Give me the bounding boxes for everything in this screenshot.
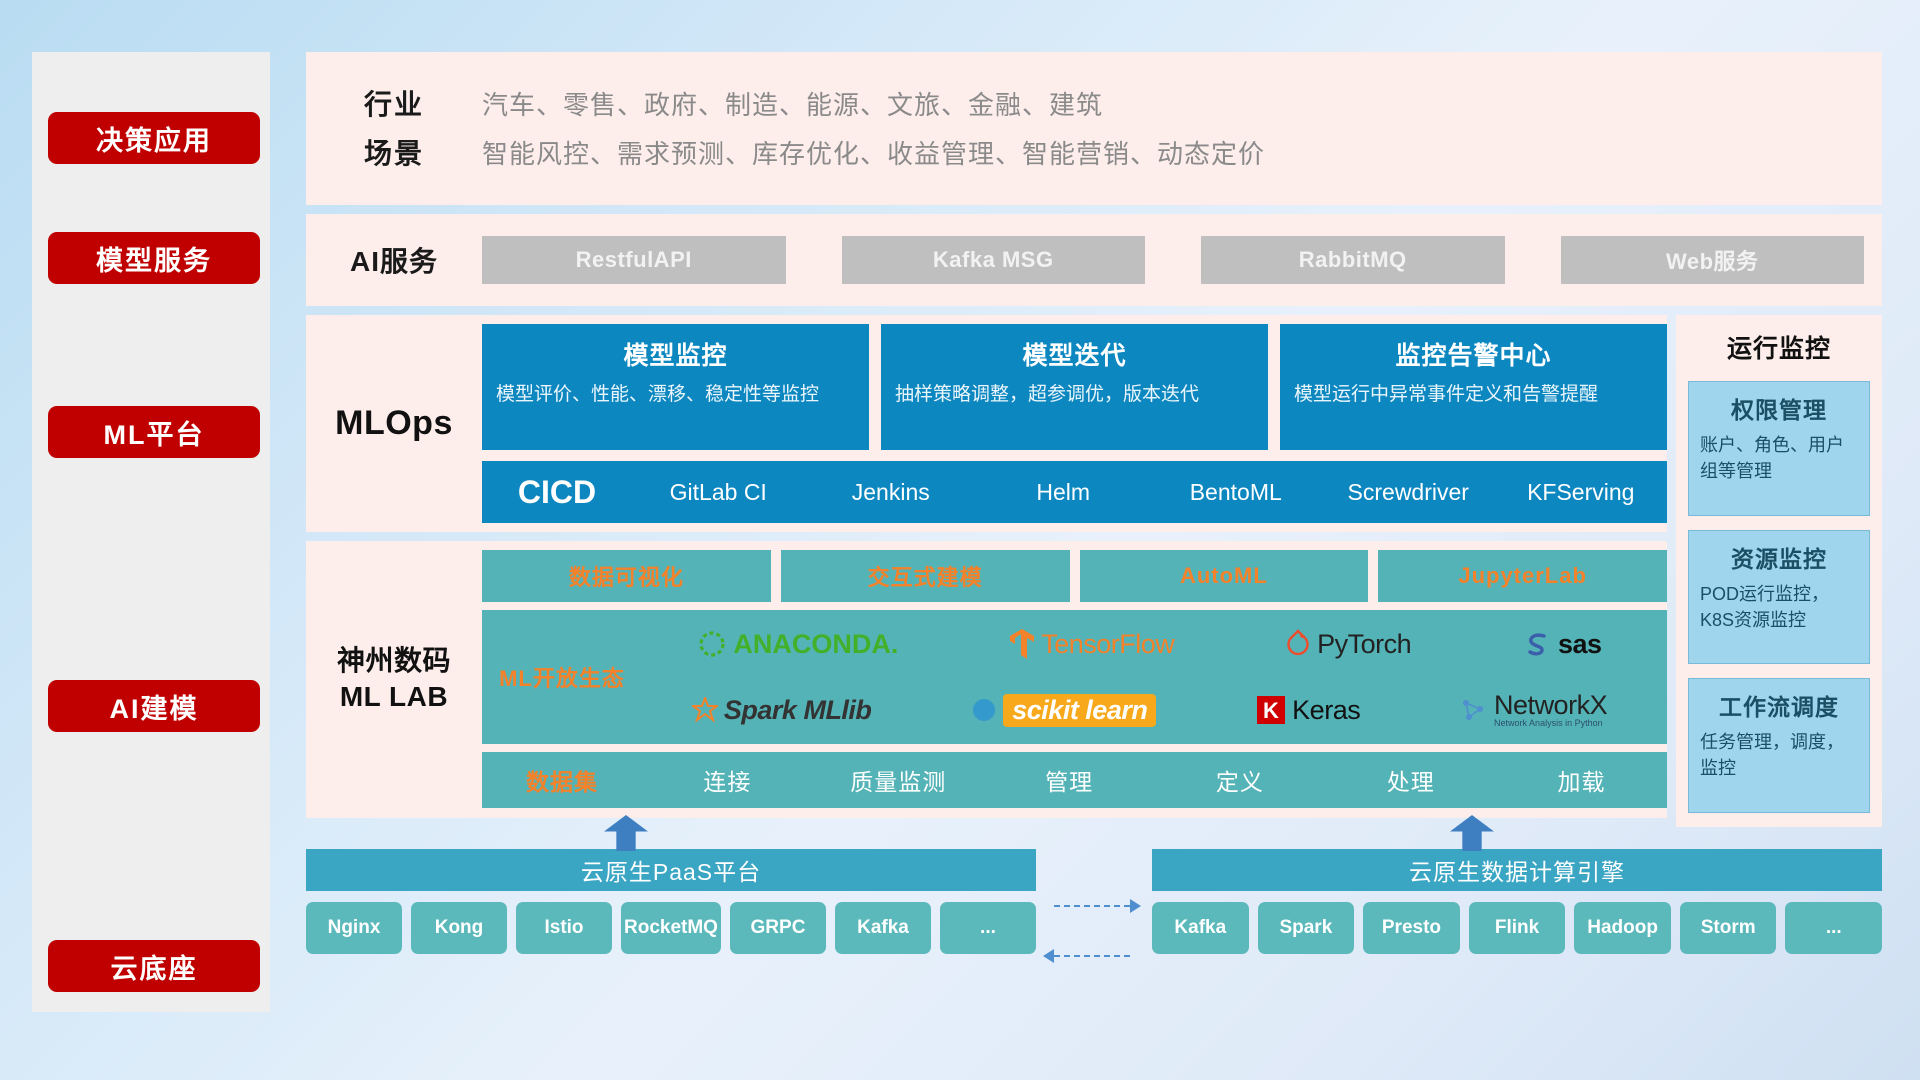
data-engine-title: 云原生数据计算引擎 — [1152, 849, 1882, 891]
mlops-card-model-monitoring[interactable]: 模型监控 模型评价、性能、漂移、稳定性等监控 — [482, 324, 869, 450]
stage-chip-ai-modeling[interactable]: AI建模 — [48, 680, 260, 732]
industry-label: 行业 — [306, 83, 482, 123]
industry-row: 行业 汽车、零售、政府、制造、能源、文旅、金融、建筑 — [306, 83, 1882, 123]
ai-service-chip-web-service[interactable]: Web服务 — [1561, 236, 1865, 284]
tensorflow-logo: TensorFlow — [1009, 628, 1174, 660]
cicd-item-jenkins[interactable]: Jenkins — [805, 480, 978, 504]
architecture-diagram: 决策应用 模型服务 ML平台 AI建模 云底座 行业 汽车、零售、政府、制造、能… — [0, 0, 1920, 1080]
paas-platform-title: 云原生PaaS平台 — [306, 849, 1036, 891]
mlops-body: 模型监控 模型评价、性能、漂移、稳定性等监控 模型迭代 抽样策略调整，超参调优，… — [482, 324, 1667, 523]
ml-lab-label-line1: 神州数码 — [337, 643, 451, 679]
engine-chip-hadoop[interactable]: Hadoop — [1574, 902, 1671, 954]
card-title: 监控告警中心 — [1294, 336, 1653, 372]
cicd-items: GitLab CI Jenkins Helm BentoML Screwdriv… — [632, 480, 1667, 504]
stage-chip-model-service[interactable]: 模型服务 — [48, 232, 260, 284]
paas-chip-kong[interactable]: Kong — [411, 902, 507, 954]
mlops-label: MLOps — [306, 324, 482, 523]
networkx-label: NetworkX — [1494, 692, 1607, 719]
paas-chip-istio[interactable]: Istio — [516, 902, 612, 954]
lab-tool-automl[interactable]: AutoML — [1080, 550, 1369, 602]
engine-chip-storm[interactable]: Storm — [1680, 902, 1777, 954]
ops-card-workflow-scheduling[interactable]: 工作流调度 任务管理，调度，监控 — [1688, 678, 1870, 813]
dataset-item-load[interactable]: 加载 — [1496, 763, 1667, 797]
spark-star-icon — [692, 697, 718, 723]
industry-values: 汽车、零售、政府、制造、能源、文旅、金融、建筑 — [482, 85, 1103, 122]
stage-chip-decision-app[interactable]: 决策应用 — [48, 112, 260, 164]
dataset-item-define[interactable]: 定义 — [1154, 763, 1325, 797]
lab-tool-data-visualization[interactable]: 数据可视化 — [482, 550, 771, 602]
ml-lab-band: 神州数码 ML LAB 数据可视化 交互式建模 AutoML JupyterLa… — [306, 541, 1667, 818]
ai-service-label: AI服务 — [306, 240, 482, 280]
card-title: 模型监控 — [496, 336, 855, 372]
main-column: 行业 汽车、零售、政府、制造、能源、文旅、金融、建筑 场景 智能风控、需求预测、… — [306, 52, 1882, 954]
stage-label: 模型服务 — [96, 239, 212, 278]
stage-chip-ml-platform[interactable]: ML平台 — [48, 406, 260, 458]
dataset-row: 数据集 连接 质量监测 管理 定义 处理 加载 — [482, 752, 1667, 808]
dataset-item-manage[interactable]: 管理 — [984, 763, 1155, 797]
paas-chip-more[interactable]: ... — [940, 902, 1036, 954]
mlops-cards: 模型监控 模型评价、性能、漂移、稳定性等监控 模型迭代 抽样策略调整，超参调优，… — [482, 324, 1667, 450]
keras-label: Keras — [1292, 695, 1360, 726]
ai-service-chip-restfulapi[interactable]: RestfulAPI — [482, 236, 786, 284]
paas-platform-block: 云原生PaaS平台 Nginx Kong Istio RocketMQ GRPC… — [306, 849, 1036, 954]
platform-section: MLOps 模型监控 模型评价、性能、漂移、稳定性等监控 模型迭代 抽样策略调整… — [306, 315, 1882, 827]
cicd-row: CICD GitLab CI Jenkins Helm BentoML Scre… — [482, 461, 1667, 523]
networkx-subtitle: Network Analysis in Python — [1494, 719, 1607, 728]
dash-line-right — [1054, 905, 1130, 907]
paas-chip-rocketmq[interactable]: RocketMQ — [621, 902, 721, 954]
networkx-logo: NetworkX Network Analysis in Python — [1460, 692, 1607, 728]
dataset-item-quality-monitoring[interactable]: 质量监测 — [813, 763, 984, 797]
ops-card-resource-monitoring[interactable]: 资源监控 POD运行监控，K8S资源监控 — [1688, 530, 1870, 665]
scenario-label: 场景 — [306, 132, 482, 172]
ml-lab-label-line2: ML LAB — [337, 679, 451, 715]
lab-tool-jupyterlab[interactable]: JupyterLab — [1378, 550, 1667, 602]
anaconda-label: ANACONDA. — [733, 629, 898, 660]
dataset-item-process[interactable]: 处理 — [1325, 763, 1496, 797]
paas-chip-grpc[interactable]: GRPC — [730, 902, 826, 954]
ops-card-title: 工作流调度 — [1700, 688, 1858, 722]
spark-mllib-label: Spark MLlib — [724, 695, 872, 726]
tensorflow-icon — [1009, 628, 1035, 660]
dataset-items: 连接 质量监测 管理 定义 处理 加载 — [642, 763, 1667, 797]
sas-icon — [1522, 629, 1552, 659]
ai-service-band: AI服务 RestfulAPI Kafka MSG RabbitMQ Web服务 — [306, 214, 1882, 306]
cloud-foundation-section: 云原生PaaS平台 Nginx Kong Istio RocketMQ GRPC… — [306, 849, 1882, 954]
runtime-monitoring-column: 运行监控 权限管理 账户、角色、用户组等管理 资源监控 POD运行监控，K8S资… — [1676, 315, 1882, 827]
pytorch-logo: PyTorch — [1285, 629, 1411, 660]
card-title: 模型迭代 — [895, 336, 1254, 372]
ops-card-desc: 任务管理，调度，监控 — [1700, 729, 1858, 781]
ml-lab-label: 神州数码 ML LAB — [306, 550, 482, 808]
card-desc: 模型评价、性能、漂移、稳定性等监控 — [496, 381, 855, 409]
scikit-learn-logo: scikit learn — [971, 694, 1156, 727]
ops-card-desc: POD运行监控，K8S资源监控 — [1700, 581, 1858, 633]
engine-chip-spark[interactable]: Spark — [1258, 902, 1355, 954]
ai-service-chip-kafka-msg[interactable]: Kafka MSG — [842, 236, 1146, 284]
card-desc: 抽样策略调整，超参调优，版本迭代 — [895, 381, 1254, 409]
pytorch-label: PyTorch — [1317, 629, 1411, 660]
spark-mllib-logo: Spark MLlib — [692, 695, 872, 726]
data-engine-block: 云原生数据计算引擎 Kafka Spark Presto Flink Hadoo… — [1152, 849, 1882, 954]
anaconda-logo: ANACONDA. — [697, 629, 898, 660]
engine-chip-flink[interactable]: Flink — [1469, 902, 1566, 954]
cicd-label: CICD — [482, 474, 632, 511]
runtime-monitoring-title: 运行监控 — [1688, 329, 1870, 365]
networkx-icon — [1460, 696, 1488, 724]
dash-line-left — [1054, 955, 1130, 957]
paas-chip-nginx[interactable]: Nginx — [306, 902, 402, 954]
pytorch-icon — [1285, 629, 1311, 659]
stage-label: AI建模 — [110, 687, 199, 726]
svg-text:K: K — [1263, 698, 1279, 723]
ops-card-title: 权限管理 — [1700, 391, 1858, 425]
engine-chip-kafka[interactable]: Kafka — [1152, 902, 1249, 954]
scikit-learn-icon — [971, 697, 997, 723]
lab-tool-interactive-modeling[interactable]: 交互式建模 — [781, 550, 1070, 602]
ops-card-permission-management[interactable]: 权限管理 账户、角色、用户组等管理 — [1688, 381, 1870, 516]
mlops-card-model-iteration[interactable]: 模型迭代 抽样策略调整，超参调优，版本迭代 — [881, 324, 1268, 450]
mlops-card-alert-center[interactable]: 监控告警中心 模型运行中异常事件定义和告警提醒 — [1280, 324, 1667, 450]
ai-service-chip-rabbitmq[interactable]: RabbitMQ — [1201, 236, 1505, 284]
engine-chip-presto[interactable]: Presto — [1363, 902, 1460, 954]
anaconda-icon — [697, 629, 727, 659]
keras-icon: K — [1256, 695, 1286, 725]
cicd-item-gitlab-ci[interactable]: GitLab CI — [632, 480, 805, 504]
ml-open-ecosystem-label: ML开放生态 — [482, 610, 642, 744]
card-desc: 模型运行中异常事件定义和告警提醒 — [1294, 381, 1653, 409]
cicd-item-helm[interactable]: Helm — [977, 480, 1150, 504]
engine-chip-more[interactable]: ... — [1785, 902, 1882, 954]
logo-grid: ANACONDA. TensorFlow — [642, 610, 1667, 744]
scenario-row: 场景 智能风控、需求预测、库存优化、收益管理、智能营销、动态定价 — [306, 132, 1882, 172]
tensorflow-label: TensorFlow — [1041, 629, 1174, 660]
sas-logo: sas — [1522, 629, 1602, 660]
platform-left: MLOps 模型监控 模型评价、性能、漂移、稳定性等监控 模型迭代 抽样策略调整… — [306, 315, 1667, 827]
ml-open-ecosystem: ML开放生态 ANACONDA. — [482, 610, 1667, 744]
ai-service-chips: RestfulAPI Kafka MSG RabbitMQ Web服务 — [482, 236, 1882, 284]
logo-row-2: Spark MLlib scikit learn — [642, 679, 1657, 741]
stage-chip-cloud-base[interactable]: 云底座 — [48, 940, 260, 992]
sas-label: sas — [1558, 629, 1602, 660]
cicd-item-screwdriver[interactable]: Screwdriver — [1322, 480, 1495, 504]
decision-app-band: 行业 汽车、零售、政府、制造、能源、文旅、金融、建筑 场景 智能风控、需求预测、… — [306, 52, 1882, 205]
engine-chip-row: Kafka Spark Presto Flink Hadoop Storm ..… — [1152, 891, 1882, 954]
scenario-values: 智能风控、需求预测、库存优化、收益管理、智能营销、动态定价 — [482, 134, 1265, 171]
arrow-head-left — [1043, 949, 1054, 963]
ops-card-title: 资源监控 — [1700, 540, 1858, 574]
stage-label: 云底座 — [111, 947, 198, 986]
stage-rail — [32, 52, 270, 1012]
cicd-item-bentoml[interactable]: BentoML — [1150, 480, 1323, 504]
keras-logo: K Keras — [1256, 695, 1360, 726]
scikit-learn-label: scikit learn — [1003, 694, 1156, 727]
dataset-item-connect[interactable]: 连接 — [642, 763, 813, 797]
mlops-band: MLOps 模型监控 模型评价、性能、漂移、稳定性等监控 模型迭代 抽样策略调整… — [306, 315, 1667, 532]
ml-lab-tools: 数据可视化 交互式建模 AutoML JupyterLab — [482, 550, 1667, 602]
paas-chip-row: Nginx Kong Istio RocketMQ GRPC Kafka ... — [306, 891, 1036, 954]
arrow-head-right — [1130, 899, 1141, 913]
stage-label: 决策应用 — [96, 119, 212, 158]
dataset-label: 数据集 — [482, 763, 642, 797]
ops-card-desc: 账户、角色、用户组等管理 — [1700, 432, 1858, 484]
logo-row-1: ANACONDA. TensorFlow — [642, 613, 1657, 675]
ml-lab-body: 数据可视化 交互式建模 AutoML JupyterLab ML开放生态 — [482, 550, 1667, 808]
paas-chip-kafka[interactable]: Kafka — [835, 902, 931, 954]
cicd-item-kfserving[interactable]: KFServing — [1495, 480, 1668, 504]
stage-label: ML平台 — [104, 413, 205, 452]
